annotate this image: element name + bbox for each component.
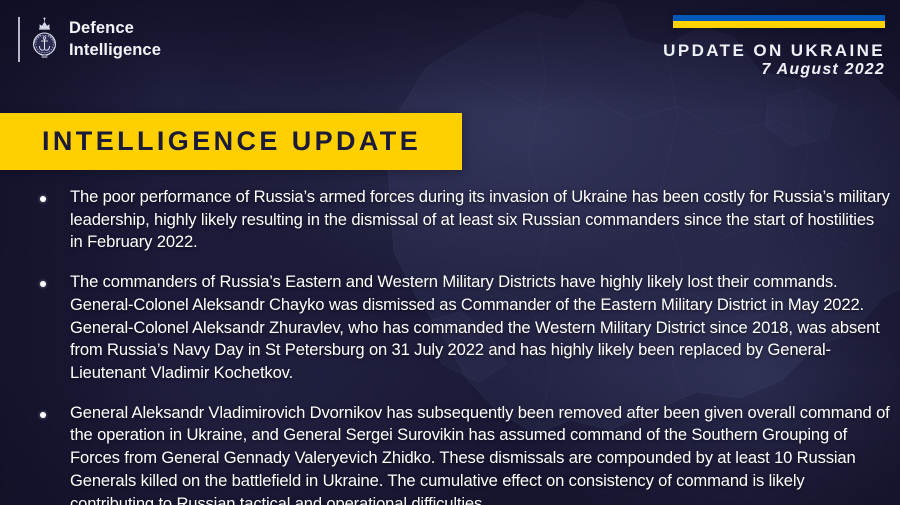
banner-label: INTELLIGENCE UPDATE <box>0 126 421 157</box>
ukraine-flag-bar-icon <box>673 15 885 28</box>
update-banner-block: UPDATE ON UKRAINE 7 August 2022 <box>663 15 885 80</box>
update-date: 7 August 2022 <box>663 61 885 80</box>
list-item: General Aleksandr Vladimirovich Dvorniko… <box>30 402 890 505</box>
logo-divider-rule <box>18 17 20 62</box>
bullet-dot-icon <box>40 281 46 287</box>
brand-line-defence: Defence <box>69 18 161 39</box>
bullet-dot-icon <box>40 412 46 418</box>
bullet-list: The poor performance of Russia’s armed f… <box>30 186 890 505</box>
defence-intelligence-logo: Defence Intelligence <box>18 17 161 62</box>
intelligence-update-banner: INTELLIGENCE UPDATE <box>0 113 462 170</box>
list-item: The poor performance of Russia’s armed f… <box>30 186 890 254</box>
bullet-text: The poor performance of Russia’s armed f… <box>70 186 890 254</box>
bullet-text: General Aleksandr Vladimirovich Dvorniko… <box>70 402 890 505</box>
bullet-dot-icon <box>40 196 46 202</box>
intelligence-update-page: Defence Intelligence UPDATE ON UKRAINE 7… <box>0 0 900 505</box>
bullet-text: The commanders of Russia’s Eastern and W… <box>70 271 890 385</box>
brand-wordmark: Defence Intelligence <box>69 18 161 61</box>
update-title: UPDATE ON UKRAINE <box>663 42 885 60</box>
page-header: Defence Intelligence UPDATE ON UKRAINE 7… <box>0 0 900 108</box>
list-item: The commanders of Russia’s Eastern and W… <box>30 271 890 385</box>
brand-line-intelligence: Intelligence <box>69 40 161 61</box>
royal-crest-icon <box>29 17 60 62</box>
flag-stripe-yellow <box>673 21 885 28</box>
